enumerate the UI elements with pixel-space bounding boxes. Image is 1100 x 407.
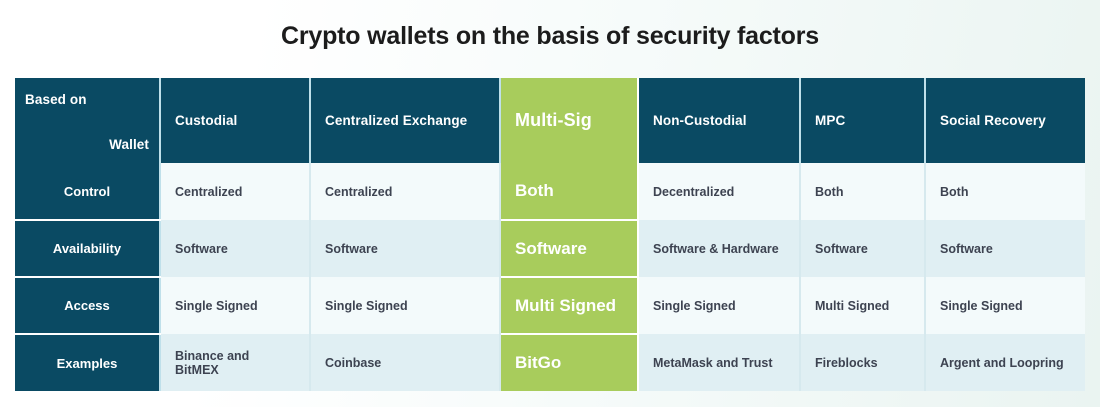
row-header-control: Control xyxy=(15,163,160,220)
cell-availability-centralized-exchange: Software xyxy=(310,220,500,277)
column-header-custodial: Custodial xyxy=(160,78,310,163)
cell-availability-mpc: Software xyxy=(800,220,925,277)
cell-access-social-recovery: Single Signed xyxy=(925,277,1085,334)
cell-control-mpc: Both xyxy=(800,163,925,220)
cell-examples-custodial: Binance and BitMEX xyxy=(160,334,310,391)
cell-availability-social-recovery: Software xyxy=(925,220,1085,277)
table-header-row: Wallet Based on Custodial Centralized Ex… xyxy=(15,78,1085,163)
cell-availability-custodial: Software xyxy=(160,220,310,277)
cell-control-centralized-exchange: Centralized xyxy=(310,163,500,220)
cell-availability-multi-sig: Software xyxy=(500,220,638,277)
cell-control-multi-sig: Both xyxy=(500,163,638,220)
cell-examples-non-custodial: MetaMask and Trust xyxy=(638,334,800,391)
cell-control-social-recovery: Both xyxy=(925,163,1085,220)
table-row: Availability Software Software Software … xyxy=(15,220,1085,277)
column-header-multi-sig: Multi-Sig xyxy=(500,78,638,163)
row-header-examples: Examples xyxy=(15,334,160,391)
cell-access-multi-sig: Multi Signed xyxy=(500,277,638,334)
column-header-centralized-exchange: Centralized Exchange xyxy=(310,78,500,163)
corner-label-wallet: Wallet xyxy=(109,137,149,152)
cell-examples-mpc: Fireblocks xyxy=(800,334,925,391)
cell-control-non-custodial: Decentralized xyxy=(638,163,800,220)
corner-axis-cell: Wallet Based on xyxy=(15,78,160,163)
crypto-wallet-comparison-table: Wallet Based on Custodial Centralized Ex… xyxy=(15,78,1085,391)
corner-label-based-on: Based on xyxy=(25,92,87,107)
row-header-access: Access xyxy=(15,277,160,334)
cell-access-mpc: Multi Signed xyxy=(800,277,925,334)
cell-control-custodial: Centralized xyxy=(160,163,310,220)
table-row: Control Centralized Centralized Both Dec… xyxy=(15,163,1085,220)
cell-access-centralized-exchange: Single Signed xyxy=(310,277,500,334)
page-title: Crypto wallets on the basis of security … xyxy=(0,22,1100,51)
cell-examples-multi-sig: BitGo xyxy=(500,334,638,391)
cell-examples-centralized-exchange: Coinbase xyxy=(310,334,500,391)
table-row: Examples Binance and BitMEX Coinbase Bit… xyxy=(15,334,1085,391)
column-header-mpc: MPC xyxy=(800,78,925,163)
cell-examples-social-recovery: Argent and Loopring xyxy=(925,334,1085,391)
cell-availability-non-custodial: Software & Hardware xyxy=(638,220,800,277)
cell-access-non-custodial: Single Signed xyxy=(638,277,800,334)
column-header-non-custodial: Non-Custodial xyxy=(638,78,800,163)
comparison-table-container: Wallet Based on Custodial Centralized Ex… xyxy=(15,78,1085,391)
row-header-availability: Availability xyxy=(15,220,160,277)
table-row: Access Single Signed Single Signed Multi… xyxy=(15,277,1085,334)
column-header-social-recovery: Social Recovery xyxy=(925,78,1085,163)
cell-access-custodial: Single Signed xyxy=(160,277,310,334)
infographic-page: Crypto wallets on the basis of security … xyxy=(0,0,1100,407)
